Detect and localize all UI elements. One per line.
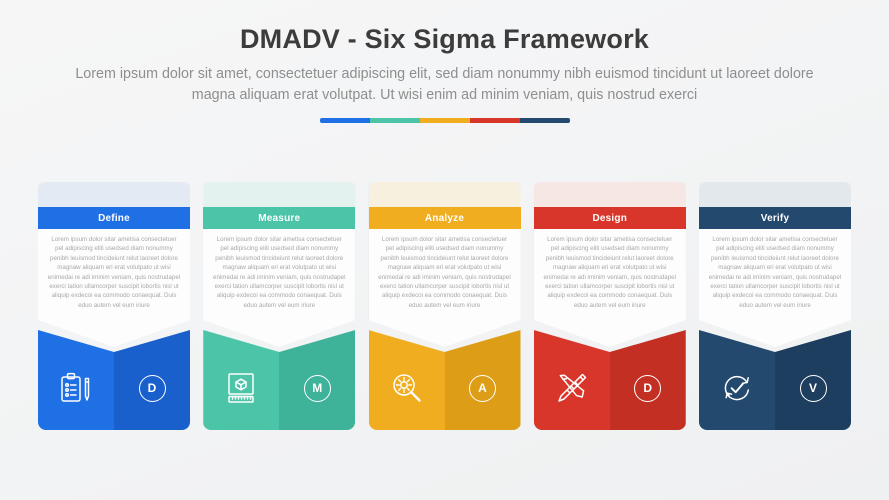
phase-card-icon-slot [699,330,775,430]
slide-header: DMADV - Six Sigma Framework Lorem ipsum … [0,22,889,123]
phase-card-description: Lorem ipsum dolor sitar ametisa consecte… [47,235,181,310]
box-ruler-icon [224,371,258,405]
phase-card-panel-tint [699,182,851,207]
phase-card-header[interactable]: Analyze [369,207,521,229]
phase-card-label: Measure [258,213,300,224]
phase-card-label: Define [98,213,130,224]
phase-card-header[interactable]: Design [534,207,686,229]
phase-card-header[interactable]: Measure [203,207,355,229]
phase-card-verify[interactable]: Verify Lorem ipsum dolor sitar ametisa c… [699,182,851,430]
phase-card-label: Analyze [425,213,464,224]
phase-card-letter-slot: M [279,330,355,430]
phase-card-panel-tint [369,182,521,207]
magnifier-gear-icon [390,371,424,405]
color-divider [320,118,570,123]
divider-segment-1 [320,118,370,123]
phase-card-measure[interactable]: Measure Lorem ipsum dolor sitar ametisa … [203,182,355,430]
phase-card-panel-tint [534,182,686,207]
phase-card-label: Design [592,213,627,224]
phase-card-description: Lorem ipsum dolor sitar ametisa consecte… [543,235,677,310]
infographic-slide: DMADV - Six Sigma Framework Lorem ipsum … [0,0,889,500]
phase-card-description: Lorem ipsum dolor sitar ametisa consecte… [708,235,842,310]
divider-segment-3 [420,118,470,123]
phase-card-header[interactable]: Define [38,207,190,229]
phase-card-description: Lorem ipsum dolor sitar ametisa consecte… [212,235,346,310]
phase-card-icon-slot [203,330,279,430]
phase-card-header[interactable]: Verify [699,207,851,229]
pencil-ruler-cross-icon [555,371,589,405]
phase-card-analyze[interactable]: Analyze Lorem ipsum dolor sitar ametisa … [369,182,521,430]
page-subtitle: Lorem ipsum dolor sit amet, consectetuer… [60,64,830,106]
phase-letter-badge: M [304,375,331,402]
phase-letter-badge: V [800,375,827,402]
phase-card-description: Lorem ipsum dolor sitar ametisa consecte… [378,235,512,310]
phase-card-list: Define Lorem ipsum dolor sitar ametisa c… [38,182,851,430]
phase-card-icon-slot [38,330,114,430]
phase-card-letter-slot: V [775,330,851,430]
phase-card-letter-slot: D [114,330,190,430]
phase-letter-badge: D [634,375,661,402]
phase-letter-badge: D [139,375,166,402]
phase-card-design[interactable]: Design Lorem ipsum dolor sitar ametisa c… [534,182,686,430]
phase-card-panel-tint [38,182,190,207]
phase-card-letter-slot: D [610,330,686,430]
phase-card-letter-slot: A [445,330,521,430]
divider-segment-2 [370,118,420,123]
refresh-check-icon [720,371,754,405]
divider-segment-4 [470,118,520,123]
phase-letter-badge: A [469,375,496,402]
phase-card-label: Verify [761,213,789,224]
clipboard-pencil-icon [59,371,93,405]
divider-segment-5 [520,118,570,123]
phase-card-icon-slot [369,330,445,430]
phase-card-panel-tint [203,182,355,207]
phase-card-define[interactable]: Define Lorem ipsum dolor sitar ametisa c… [38,182,190,430]
page-title: DMADV - Six Sigma Framework [0,22,889,56]
phase-card-icon-slot [534,330,610,430]
